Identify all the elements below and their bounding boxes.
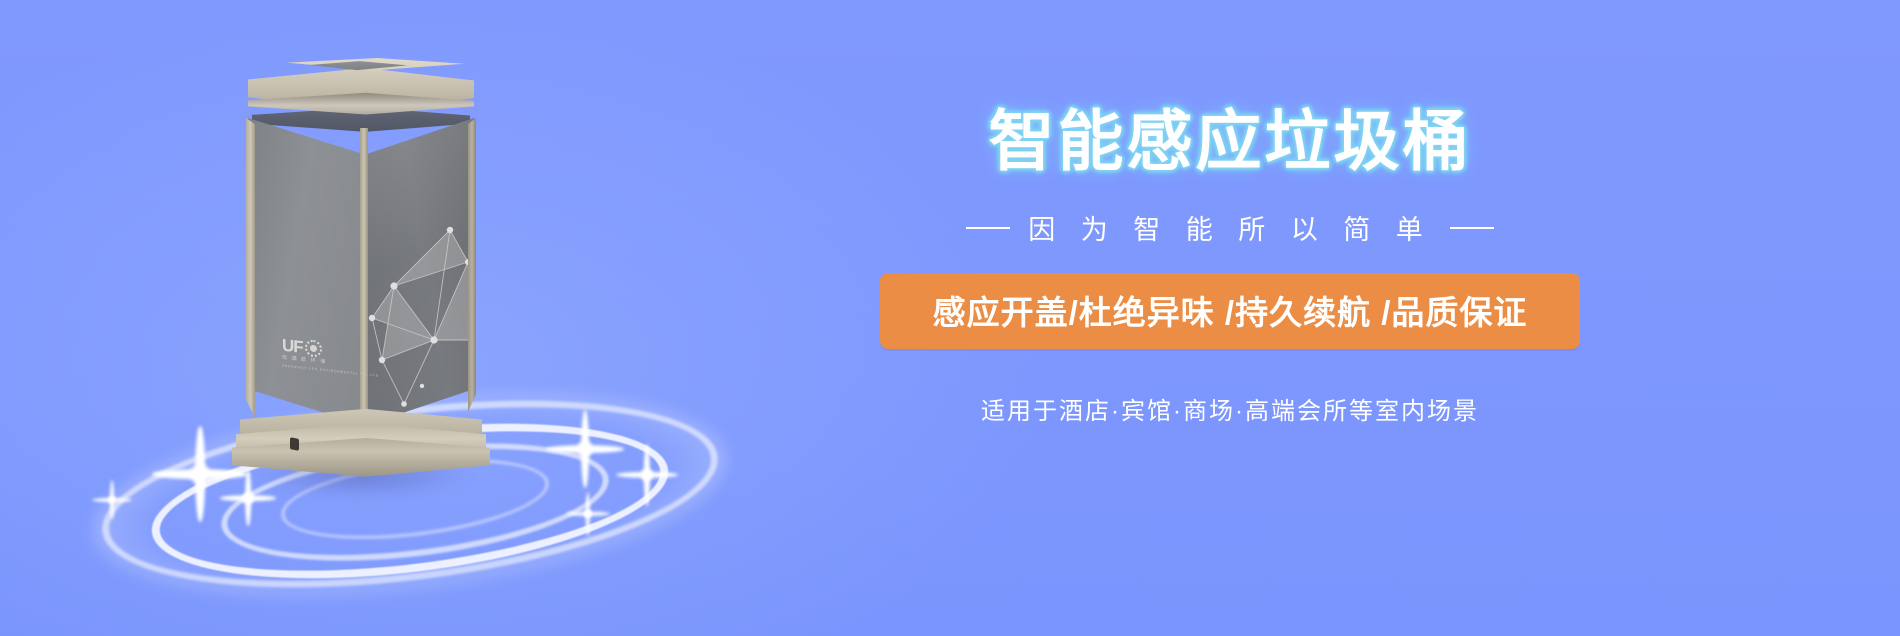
- rule-right-icon: [1450, 227, 1494, 229]
- rule-left-icon: [966, 227, 1010, 229]
- sensor-port-icon: [290, 437, 299, 451]
- brand-wordmark: UF: [282, 337, 303, 356]
- promo-banner: UF 优 福 欧 环 保 SHENZHEN UFO ENVIRONMENTAL …: [0, 0, 1900, 636]
- usage-tagline: 适用于酒店·宾馆·商场·高端会所等室内场景: [880, 391, 1580, 426]
- feature-badge: 感应开盖/杜绝异味 /持久续航 /品质保证: [880, 273, 1580, 349]
- banner-copy: 智能感应垃圾桶 因 为 智 能 所 以 简 单 感应开盖/杜绝异味 /持久续航 …: [880, 108, 1580, 426]
- body-edge-right: [468, 118, 476, 418]
- subheadline-text: 因 为 智 能 所 以 简 单: [1028, 208, 1432, 247]
- brand-logo: UF 优 福 欧 环 保 SHENZHEN UFO ENVIRONMENTAL …: [282, 337, 346, 392]
- product-image-trash-bin: UF 优 福 欧 环 保 SHENZHEN UFO ENVIRONMENTAL …: [230, 40, 492, 460]
- body-edge-center: [360, 128, 368, 436]
- subheadline: 因 为 智 能 所 以 简 单: [880, 208, 1580, 247]
- product-stage: UF 优 福 欧 环 保 SHENZHEN UFO ENVIRONMENTAL …: [70, 40, 750, 600]
- body-edge-left: [246, 118, 255, 424]
- network-graphic: [364, 190, 476, 420]
- brand-ring-icon: [305, 339, 322, 358]
- headline: 智能感应垃圾桶: [880, 108, 1580, 174]
